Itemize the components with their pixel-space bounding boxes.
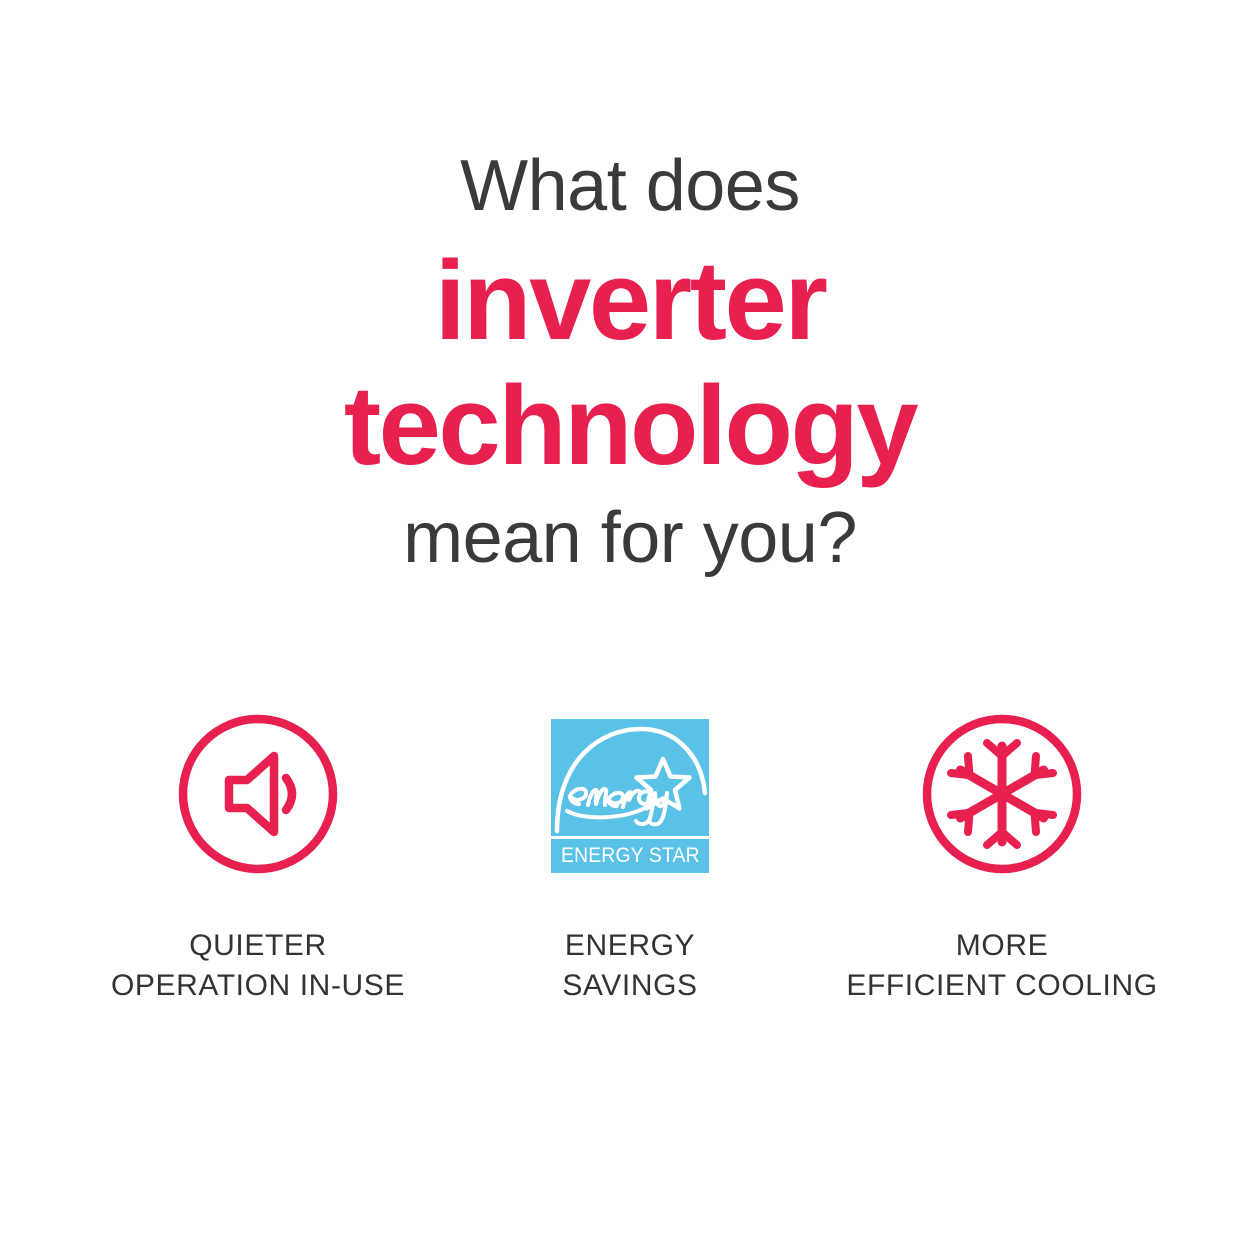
feature-row: QUIETER OPERATION IN-USE	[0, 712, 1260, 1006]
feature-label-line-1: MORE	[956, 929, 1048, 962]
feature-label-line-2: EFFICIENT COOLING	[846, 966, 1157, 1006]
feature-label-line-1: ENERGY	[565, 929, 695, 962]
headline-line-2-emphasis: inverter	[0, 238, 1260, 363]
feature-icon-slot	[918, 712, 1086, 880]
feature-label: MORE EFFICIENT COOLING	[846, 926, 1157, 1006]
feature-energy-savings: ENERGY STAR ENERGY SAVINGS	[465, 712, 795, 1006]
feature-efficient-cooling: MORE EFFICIENT COOLING	[837, 712, 1167, 1006]
feature-label-line-2: SAVINGS	[562, 966, 697, 1006]
energy-star-wordmark: ENERGY STAR	[561, 844, 700, 868]
headline-line-4: mean for you?	[0, 499, 1260, 578]
energy-star-graphic	[551, 719, 709, 836]
headline-line-3-emphasis: technology	[0, 363, 1260, 488]
feature-label: QUIETER OPERATION IN-USE	[111, 926, 405, 1006]
speaker-volume-icon	[174, 710, 342, 883]
feature-icon-slot: ENERGY STAR	[551, 712, 709, 880]
feature-label-line-1: QUIETER	[189, 929, 327, 962]
feature-label-line-2: OPERATION IN-USE	[111, 966, 405, 1006]
feature-label: ENERGY SAVINGS	[562, 926, 697, 1006]
promo-graphic-page: What does inverter technology mean for y…	[0, 0, 1260, 1260]
energy-star-wordmark-bar: ENERGY STAR	[551, 839, 709, 873]
snowflake-icon	[918, 710, 1086, 883]
headline-line-1: What does	[0, 148, 1260, 226]
feature-icon-slot	[174, 712, 342, 880]
energy-star-logo: ENERGY STAR	[551, 719, 709, 873]
headline-block: What does inverter technology mean for y…	[0, 148, 1260, 578]
feature-quieter-operation: QUIETER OPERATION IN-USE	[93, 712, 423, 1006]
